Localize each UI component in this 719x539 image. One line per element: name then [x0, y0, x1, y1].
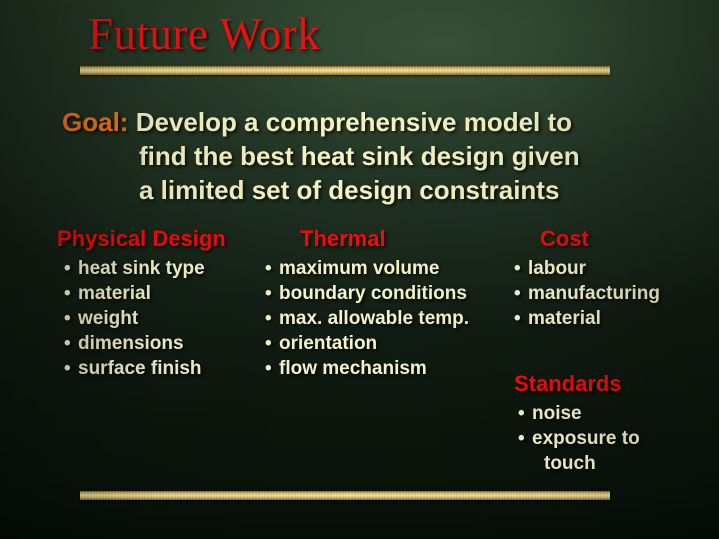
list-item: heat sink type — [64, 256, 226, 281]
list-item-label: exposure to — [532, 428, 640, 449]
divider-bottom — [80, 491, 610, 500]
column-heading-cost: Cost — [512, 226, 660, 252]
list-item-label: maximum volume — [279, 258, 440, 279]
list-item: labour — [514, 256, 660, 281]
slide: Future Work Goal: Develop a comprehensiv… — [0, 0, 719, 539]
goal-line-1: Develop a comprehensive model to — [136, 107, 572, 137]
divider-top — [80, 66, 610, 75]
list-item-label: weight — [78, 308, 138, 329]
list-cost: labour manufacturing material — [512, 256, 660, 331]
list-item: boundary conditions — [265, 281, 469, 306]
list-item-label: material — [78, 283, 151, 304]
list-item: material — [64, 281, 226, 306]
list-item-label: manufacturing — [528, 283, 660, 304]
section-heading-standards: Standards — [512, 371, 640, 397]
list-item: max. allowable temp. — [265, 306, 469, 331]
list-item-label: heat sink type — [78, 258, 205, 279]
section-standards: Standards noise exposure totouch — [512, 371, 640, 476]
list-item: exposure totouch — [518, 426, 640, 476]
list-item: maximum volume — [265, 256, 469, 281]
goal-line-3: a limited set of design constraints — [139, 173, 662, 207]
goal-label: Goal: — [62, 107, 128, 137]
list-item-label: material — [528, 308, 601, 329]
list-standards: noise exposure totouch — [512, 401, 640, 476]
list-item-label-continued: touch — [544, 451, 640, 476]
column-heading-thermal: Thermal — [265, 226, 469, 252]
list-item: surface finish — [64, 356, 226, 381]
list-item: noise — [518, 401, 640, 426]
list-thermal: maximum volume boundary conditions max. … — [265, 256, 469, 381]
column-heading-physical-design: Physical Design — [57, 226, 226, 252]
list-item: dimensions — [64, 331, 226, 356]
list-item: flow mechanism — [265, 356, 469, 381]
goal-line-2: find the best heat sink design given — [139, 139, 662, 173]
list-item-label: orientation — [279, 333, 377, 354]
list-physical-design: heat sink type material weight dimension… — [57, 256, 226, 381]
goal-block: Goal: Develop a comprehensive model to f… — [62, 105, 662, 207]
list-item: orientation — [265, 331, 469, 356]
list-item: manufacturing — [514, 281, 660, 306]
list-item-label: max. allowable temp. — [279, 308, 469, 329]
list-item-label: surface finish — [78, 358, 202, 379]
list-item: material — [514, 306, 660, 331]
list-item: weight — [64, 306, 226, 331]
list-item-label: dimensions — [78, 333, 184, 354]
column-physical-design: Physical Design heat sink type material … — [57, 226, 226, 381]
list-item-label: flow mechanism — [279, 358, 427, 379]
list-item-label: boundary conditions — [279, 283, 467, 304]
list-item-label: labour — [528, 258, 586, 279]
column-cost: Cost labour manufacturing material — [512, 226, 660, 331]
list-item-label: noise — [532, 403, 582, 424]
column-thermal: Thermal maximum volume boundary conditio… — [265, 226, 469, 381]
page-title: Future Work — [88, 9, 320, 59]
